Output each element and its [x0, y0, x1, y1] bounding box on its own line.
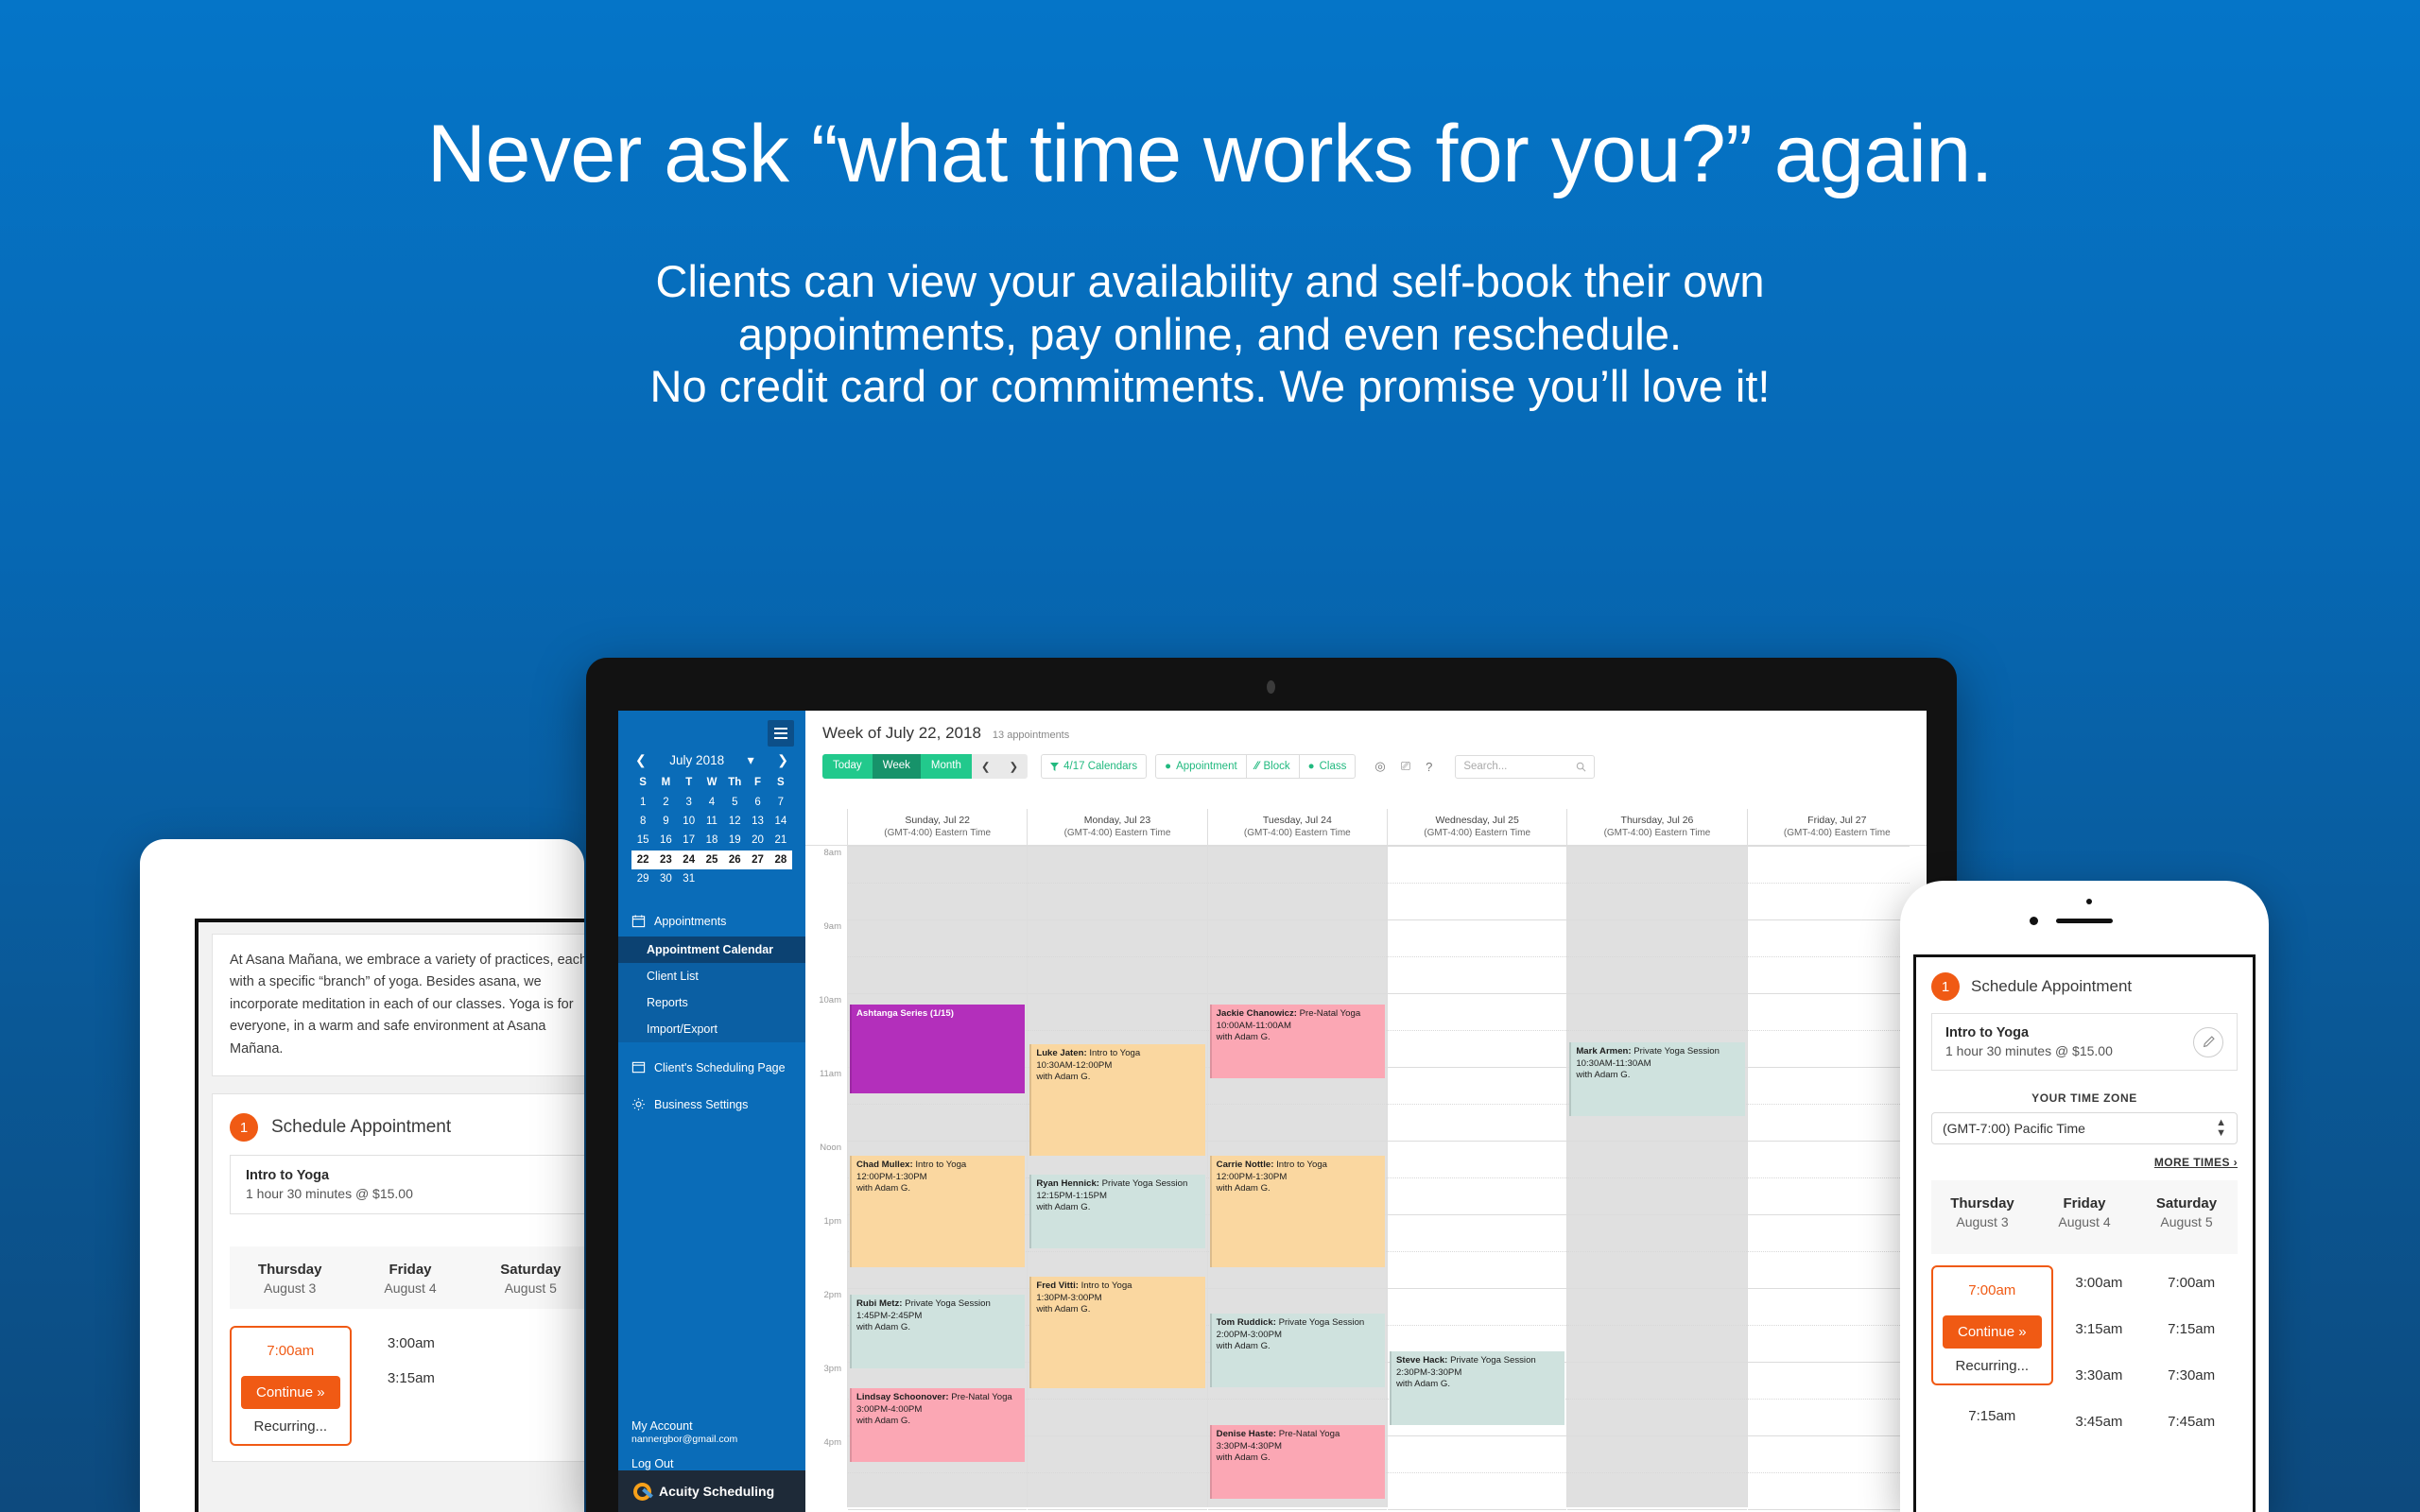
day-cell[interactable]: 1: [631, 792, 654, 811]
day-cell[interactable]: 21: [769, 831, 792, 850]
appointment-client: Carrie Nottle:: [1217, 1160, 1274, 1170]
day-cell[interactable]: 20: [746, 831, 769, 850]
appointment-staff: with Adam G.: [1036, 1304, 1090, 1314]
hour-line: [1388, 1141, 1566, 1142]
tablet-continue-button[interactable]: Continue »: [241, 1376, 340, 1409]
appointment-block[interactable]: Lindsay Schoonover: Pre-Natal Yoga3:00PM…: [850, 1388, 1025, 1462]
tablet-day-grid: Thursday August 3 Friday August 4 Saturd…: [230, 1246, 584, 1446]
appointment-time: 1:30PM-3:00PM: [1036, 1293, 1101, 1303]
sidebar-item-clients-scheduling-page[interactable]: Client's Scheduling Page: [618, 1052, 805, 1083]
week-calendar: Sunday, Jul 22 (GMT-4:00) Eastern Time M…: [805, 809, 1927, 1512]
column-day-label: Tuesday, Jul 24: [1210, 815, 1385, 826]
half-hour-line: [1388, 1472, 1566, 1473]
tablet-slot-friday-0[interactable]: 3:00am: [352, 1326, 472, 1361]
tablet-slot-col-saturday: [471, 1326, 584, 1446]
phone-slot-col-thursday: 7:00am Continue » Recurring... 7:15am: [1931, 1265, 2053, 1439]
appointment-time: 10:00AM-11:00AM: [1217, 1021, 1291, 1031]
day-cell[interactable]: 4: [700, 792, 723, 811]
toolbar-buttons: 4/17 Calendars ● Appointment ⁄⁄ Block ●: [1041, 754, 1356, 779]
sidebar-item-reports[interactable]: Reports: [618, 989, 805, 1016]
caret-down-icon[interactable]: ▾: [748, 752, 754, 768]
half-hour-line: [1567, 1177, 1746, 1178]
window-icon: [631, 1060, 646, 1074]
day-cell[interactable]: 6: [746, 792, 769, 811]
sidebar-item-appointments[interactable]: Appointments: [618, 905, 805, 936]
tablet-device-mockup: At Asana Mañana, we embrace a variety of…: [140, 839, 584, 1512]
hour-line: [1748, 846, 1927, 847]
appointment-staff: with Adam G.: [1036, 1202, 1090, 1212]
hour-line: [1208, 1509, 1387, 1510]
hour-line: [1388, 1435, 1566, 1436]
half-hour-line: [1567, 956, 1746, 957]
tablet-day-col-1: Friday August 4: [350, 1262, 470, 1296]
phone-step-title: Schedule Appointment: [1971, 977, 2132, 996]
appointment-time: 12:15PM-1:15PM: [1036, 1191, 1107, 1201]
half-hour-line: [1028, 1251, 1206, 1252]
acuity-logo-icon: [633, 1483, 651, 1501]
time-gutter-label: 3pm: [824, 1364, 841, 1374]
hero-subtitle-line-3: No credit card or commitments. We promis…: [0, 360, 2420, 412]
day-cell[interactable]: 18: [700, 831, 723, 850]
phone-slot-saturday-1[interactable]: 7:15am: [2145, 1312, 2238, 1358]
calendar-week-title: Week of July 22, 2018: [822, 724, 981, 743]
day-cell[interactable]: 24: [678, 850, 700, 869]
hour-line: [1388, 1288, 1566, 1289]
phone-timezone-value: (GMT-7:00) Pacific Time: [1943, 1121, 2085, 1136]
hour-line: [1388, 1067, 1566, 1068]
mini-calendar-dow-row: S M T W Th F S: [631, 773, 792, 792]
sidebar-item-label: Client's Scheduling Page: [654, 1061, 786, 1074]
time-gutter-label: 1pm: [824, 1216, 841, 1227]
chevron-right-icon[interactable]: ❯: [1000, 754, 1028, 779]
phone-device-mockup: 1 Schedule Appointment Intro to Yoga 1 h…: [1900, 881, 2269, 1512]
day-cell[interactable]: 5: [723, 792, 746, 811]
calendar-column-3[interactable]: Steve Hack: Private Yoga Session2:30PM-3…: [1387, 846, 1566, 1507]
appointment-block[interactable]: Luke Jaten: Intro to Yoga10:30AM-12:00PM…: [1029, 1044, 1204, 1156]
appointment-client: Lindsay Schoonover:: [856, 1392, 949, 1402]
view-switcher: Today Week Month ❮ ❯: [822, 754, 1028, 779]
calendar-col-header-4: Thursday, Jul 26 (GMT-4:00) Eastern Time: [1566, 809, 1746, 845]
calendars-filter-button[interactable]: 4/17 Calendars: [1041, 754, 1147, 779]
add-class-button[interactable]: ● Class: [1300, 754, 1357, 779]
tablet-scheduling-card: 1 Schedule Appointment Intro to Yoga 1 h…: [212, 1093, 584, 1462]
tablet-day-date-0: August 3: [230, 1280, 350, 1296]
tablet-recurring-link[interactable]: Recurring...: [241, 1418, 340, 1435]
half-hour-line: [1028, 1030, 1206, 1031]
hour-line: [848, 1509, 1027, 1510]
appointment-block[interactable]: Denise Haste: Pre-Natal Yoga3:30PM-4:30P…: [1210, 1425, 1385, 1499]
half-hour-line: [1567, 1325, 1746, 1326]
plus-circle-icon: ●: [1308, 761, 1315, 772]
tablet-day-header-row: Thursday August 3 Friday August 4 Saturd…: [230, 1246, 584, 1309]
appointment-client: Chad Mullex:: [856, 1160, 913, 1170]
phone-speaker: [2056, 919, 2113, 923]
phone-day-col-1: Friday August 4: [2033, 1195, 2135, 1229]
laptop-camera: [1267, 680, 1275, 694]
appointment-client: Mark Armen:: [1576, 1046, 1631, 1057]
tablet-selected-slot-time[interactable]: 7:00am: [241, 1333, 340, 1368]
phone-slot-thursday-1[interactable]: 7:15am: [1931, 1399, 2053, 1434]
calendars-filter-label: 4/17 Calendars: [1063, 761, 1137, 772]
chevron-right-icon[interactable]: ❯: [777, 752, 788, 768]
appointment-staff: with Adam G.: [1396, 1379, 1450, 1389]
day-cell: [700, 869, 723, 888]
appointment-staff: with Adam G.: [1217, 1341, 1270, 1351]
dow-label: S: [631, 773, 654, 792]
time-gutter-label: 11am: [820, 1069, 841, 1079]
tablet-day-date-1: August 4: [350, 1280, 470, 1296]
log-out-link[interactable]: Log Out: [631, 1457, 792, 1470]
calendar-col-header-5: Friday, Jul 27 (GMT-4:00) Eastern Time: [1747, 809, 1927, 845]
column-tz-label: (GMT-4:00) Eastern Time: [1210, 828, 1385, 838]
half-hour-line: [1208, 956, 1387, 957]
phone-slot-col-saturday: 7:00am 7:15am 7:30am 7:45am: [2145, 1265, 2238, 1439]
tablet-slot-col-thursday: 7:00am Continue » Recurring...: [230, 1326, 352, 1446]
appointment-service: Pre-Natal Yoga: [1300, 1008, 1361, 1019]
search-placeholder: Search...: [1463, 761, 1507, 772]
sidebar-item-appointment-calendar[interactable]: Appointment Calendar: [618, 936, 805, 963]
tablet-service-name: Intro to Yoga: [246, 1168, 575, 1183]
day-cell[interactable]: 17: [678, 831, 700, 850]
hour-line: [848, 846, 1027, 847]
appointment-block[interactable]: Steve Hack: Private Yoga Session2:30PM-3…: [1390, 1351, 1564, 1425]
appointment-block[interactable]: Ryan Hennick: Private Yoga Session12:15P…: [1029, 1175, 1204, 1248]
appointment-client: Fred Vitti:: [1036, 1280, 1079, 1291]
day-cell[interactable]: 27: [746, 850, 769, 869]
appointment-client: Rubi Metz:: [856, 1298, 903, 1309]
toolbar-icon-buttons: ◎ ⎚ ?: [1374, 759, 1432, 774]
day-cell[interactable]: 31: [678, 869, 700, 888]
add-appointment-button[interactable]: ● Appointment: [1155, 754, 1247, 779]
appointment-block[interactable]: Chad Mullex: Intro to Yoga12:00PM-1:30PM…: [850, 1156, 1025, 1267]
sidebar-item-client-list[interactable]: Client List: [618, 963, 805, 989]
hour-line: [1028, 1509, 1206, 1510]
brand-name: Acuity Scheduling: [659, 1484, 774, 1499]
day-cell[interactable]: 15: [631, 831, 654, 850]
day-cell[interactable]: 26: [723, 850, 746, 869]
plus-circle-icon: ●: [1165, 761, 1171, 772]
appointment-staff: with Adam G.: [1217, 1032, 1270, 1042]
day-cell[interactable]: 22: [631, 850, 654, 869]
column-day-label: Sunday, Jul 22: [850, 815, 1025, 826]
phone-continue-button[interactable]: Continue »: [1943, 1315, 2042, 1349]
app-sidebar: ❮ July 2018 ▾ ❯ S M T W Th F S 1 2: [618, 711, 805, 1512]
half-hour-line: [848, 956, 1027, 957]
mini-calendar-month-label[interactable]: July 2018: [669, 753, 724, 767]
tablet-day-col-0: Thursday August 3: [230, 1262, 350, 1296]
day-cell[interactable]: 30: [654, 869, 677, 888]
appointment-service: Intro to Yoga: [915, 1160, 966, 1170]
calendar-header: Week of July 22, 2018 13 appointments: [805, 711, 1927, 743]
appointment-service: Private Yoga Session: [1450, 1355, 1536, 1366]
hour-line: [1208, 993, 1387, 994]
half-hour-line: [848, 883, 1027, 884]
calendar-columns: Ashtanga Series (1/15)Chad Mullex: Intro…: [847, 846, 1927, 1507]
hour-line: [848, 1141, 1027, 1142]
phone-selected-slot-time[interactable]: 7:00am: [1943, 1273, 2042, 1308]
hamburger-icon[interactable]: [768, 720, 794, 747]
add-block-label: Block: [1264, 761, 1290, 772]
phone-slot-friday-3[interactable]: 3:45am: [2053, 1404, 2146, 1439]
chevron-left-icon[interactable]: ❮: [635, 752, 647, 768]
hero-subtitle: Clients can view your availability and s…: [0, 255, 2420, 412]
half-hour-line: [1748, 883, 1927, 884]
phone-sensor: [2086, 899, 2092, 904]
tablet-screen: At Asana Mañana, we embrace a variety of…: [195, 919, 584, 1512]
day-cell[interactable]: 28: [769, 850, 792, 869]
laptop-device-mockup: ❮ July 2018 ▾ ❯ S M T W Th F S 1 2: [586, 658, 1957, 1512]
appointment-staff: with Adam G.: [1576, 1070, 1630, 1080]
question-mark-icon[interactable]: ?: [1426, 760, 1432, 774]
phone-screen: 1 Schedule Appointment Intro to Yoga 1 h…: [1913, 954, 2256, 1512]
phone-day-col-0: Thursday August 3: [1931, 1195, 2033, 1229]
hour-line: [1028, 919, 1206, 920]
hour-line: [848, 919, 1027, 920]
printer-icon[interactable]: ⎚: [1401, 759, 1410, 774]
day-cell[interactable]: 8: [631, 812, 654, 831]
hour-line: [1388, 993, 1566, 994]
chevron-left-icon[interactable]: ❮: [972, 754, 1000, 779]
appointment-time: 3:00PM-4:00PM: [856, 1404, 922, 1415]
appointment-service: Intro to Yoga: [1081, 1280, 1132, 1291]
my-account-link[interactable]: My Account: [631, 1419, 792, 1433]
hour-line: [848, 993, 1027, 994]
mini-calendar-week-1: 1 2 3 4 5 6 7: [631, 792, 792, 811]
appointment-client: Denise Haste:: [1217, 1429, 1276, 1439]
appointment-service: Private Yoga Session: [1279, 1317, 1365, 1328]
mini-calendar-week-5: 29 30 31: [631, 869, 792, 888]
dow-label: Th: [723, 773, 746, 792]
tablet-selected-slot-wrapper[interactable]: 7:00am Continue » Recurring...: [230, 1326, 352, 1446]
add-appointment-label: Appointment: [1176, 761, 1237, 772]
appointment-block[interactable]: Ashtanga Series (1/15): [850, 1005, 1025, 1093]
phone-step-header: 1 Schedule Appointment: [1931, 972, 2238, 1013]
phone-recurring-link[interactable]: Recurring...: [1943, 1358, 2042, 1374]
half-hour-line: [1028, 1472, 1206, 1473]
dow-label: W: [700, 773, 723, 792]
app-main: Week of July 22, 2018 13 appointments To…: [805, 711, 1927, 1512]
account-email: nannergbor@gmail.com: [631, 1434, 792, 1445]
phone-slot-friday-0[interactable]: 3:00am: [2053, 1265, 2146, 1312]
appointment-service: Intro to Yoga: [1089, 1048, 1140, 1058]
phone-day-name-0: Thursday: [1931, 1195, 2033, 1211]
page-title: Never ask “what time works for you?” aga…: [0, 112, 2420, 197]
column-day-label: Thursday, Jul 26: [1569, 815, 1744, 826]
add-block-button[interactable]: ⁄⁄ Block: [1247, 754, 1300, 779]
day-cell[interactable]: 16: [654, 831, 677, 850]
calendar-column-0[interactable]: Ashtanga Series (1/15)Chad Mullex: Intro…: [847, 846, 1027, 1507]
appointment-client: Steve Hack:: [1396, 1355, 1447, 1366]
time-gutter: 8am9am10am11amNoon1pm2pm3pm4pm: [805, 846, 847, 1507]
half-hour-line: [1208, 883, 1387, 884]
half-hour-line: [1388, 1177, 1566, 1178]
phone-slot-friday-2[interactable]: 3:30am: [2053, 1358, 2146, 1404]
appointment-block[interactable]: Jackie Chanowicz: Pre-Natal Yoga10:00AM-…: [1210, 1005, 1385, 1078]
appointment-service: Private Yoga Session: [905, 1298, 991, 1309]
calendar-icon: [631, 914, 646, 928]
half-hour-line: [1388, 1030, 1566, 1031]
tablet-day-date-2: August 5: [471, 1280, 584, 1296]
appointment-block[interactable]: Carrie Nottle: Intro to Yoga12:00PM-1:30…: [1210, 1156, 1385, 1267]
day-cell[interactable]: 14: [769, 812, 792, 831]
appointment-block[interactable]: Mark Armen: Private Yoga Session10:30AM-…: [1569, 1042, 1744, 1116]
magnifier-icon[interactable]: ◎: [1374, 759, 1385, 774]
sidebar-subnav-appointments: Appointment Calendar Client List Reports…: [618, 936, 805, 1042]
half-hour-line: [1028, 883, 1206, 884]
calendar-column-1[interactable]: Luke Jaten: Intro to Yoga10:30AM-12:00PM…: [1027, 846, 1206, 1507]
column-tz-label: (GMT-4:00) Eastern Time: [1569, 828, 1744, 838]
add-class-label: Class: [1320, 761, 1347, 772]
dow-label: S: [769, 773, 792, 792]
day-cell[interactable]: 9: [654, 812, 677, 831]
phone-service-box[interactable]: Intro to Yoga 1 hour 30 minutes @ $15.00: [1931, 1013, 2238, 1071]
appointment-count: 13 appointments: [993, 730, 1069, 741]
hour-line: [1567, 1509, 1746, 1510]
half-hour-line: [1388, 1251, 1566, 1252]
appointment-block[interactable]: Fred Vitti: Intro to Yoga1:30PM-3:00PMwi…: [1029, 1277, 1204, 1388]
appointment-time: 2:00PM-3:00PM: [1217, 1330, 1282, 1340]
half-hour-line: [848, 1104, 1027, 1105]
time-gutter-label: 10am: [819, 995, 841, 1005]
more-times-link[interactable]: MORE TIMES ›: [1931, 1156, 2238, 1169]
tablet-step-title: Schedule Appointment: [271, 1117, 451, 1138]
time-gutter-label: Noon: [820, 1143, 841, 1153]
hour-line: [1567, 993, 1746, 994]
month-button[interactable]: Month: [921, 754, 972, 779]
phone-day-date-2: August 5: [2135, 1214, 2238, 1229]
appointment-staff: with Adam G.: [856, 1322, 910, 1332]
phone-day-name-1: Friday: [2033, 1195, 2135, 1211]
appointment-client: Ashtanga Series (1/15): [856, 1008, 954, 1019]
phone-day-col-2: Saturday August 5: [2135, 1195, 2238, 1229]
hour-line: [1208, 919, 1387, 920]
phone-timezone-select[interactable]: (GMT-7:00) Pacific Time ▲▼: [1931, 1112, 2238, 1144]
day-cell[interactable]: 2: [654, 792, 677, 811]
hero-subtitle-line-2: appointments, pay online, and even resch…: [0, 308, 2420, 360]
day-cell: [746, 869, 769, 888]
day-cell[interactable]: 7: [769, 792, 792, 811]
sidebar-nav: Appointments Appointment Calendar Client…: [618, 905, 805, 1120]
search-input[interactable]: Search...: [1455, 755, 1595, 779]
time-gutter-label: 2pm: [824, 1290, 841, 1300]
tablet-day-name-2: Saturday: [471, 1262, 584, 1278]
phone-slot-saturday-3[interactable]: 7:45am: [2145, 1404, 2238, 1439]
day-cell[interactable]: 23: [654, 850, 677, 869]
appointment-service: Intro to Yoga: [1276, 1160, 1327, 1170]
appointment-staff: with Adam G.: [856, 1183, 910, 1194]
column-day-label: Wednesday, Jul 25: [1390, 815, 1564, 826]
time-gutter-label: 9am: [824, 921, 841, 932]
sidebar-item-business-settings[interactable]: Business Settings: [618, 1089, 805, 1120]
day-cell[interactable]: 19: [723, 831, 746, 850]
calendar-column-headers: Sunday, Jul 22 (GMT-4:00) Eastern Time M…: [805, 809, 1927, 846]
sidebar-account-section: My Account nannergbor@gmail.com Log Out: [618, 1419, 805, 1470]
hour-line: [848, 1288, 1027, 1289]
tablet-slot-col-friday: 3:00am 3:15am: [352, 1326, 472, 1446]
hour-line: [1208, 1141, 1387, 1142]
half-hour-line: [1388, 956, 1566, 957]
hour-line: [1567, 846, 1746, 847]
day-cell[interactable]: 25: [700, 850, 723, 869]
day-cell[interactable]: 3: [678, 792, 700, 811]
appointment-staff: with Adam G.: [856, 1416, 910, 1426]
tablet-day-name-1: Friday: [350, 1262, 470, 1278]
phone-slot-friday-1[interactable]: 3:15am: [2053, 1312, 2146, 1358]
time-gutter-label: 4pm: [824, 1437, 841, 1448]
laptop-screen: ❮ July 2018 ▾ ❯ S M T W Th F S 1 2: [618, 711, 1927, 1512]
phone-day-grid: Thursday August 3 Friday August 4 Saturd…: [1931, 1180, 2238, 1439]
day-cell[interactable]: 13: [746, 812, 769, 831]
hour-line: [1567, 1214, 1746, 1215]
calendar-column-2[interactable]: Jackie Chanowicz: Pre-Natal Yoga10:00AM-…: [1207, 846, 1387, 1507]
half-hour-line: [1208, 1399, 1387, 1400]
block-stripes-icon: ⁄⁄: [1255, 761, 1259, 772]
appointment-time: 2:30PM-3:30PM: [1396, 1367, 1461, 1378]
tablet-step-header: 1 Schedule Appointment: [230, 1109, 584, 1155]
dow-label: F: [746, 773, 769, 792]
half-hour-line: [848, 1472, 1027, 1473]
appointment-service: Private Yoga Session: [1633, 1046, 1720, 1057]
hour-line: [1028, 846, 1206, 847]
column-tz-label: (GMT-4:00) Eastern Time: [1390, 828, 1564, 838]
appointment-time: 3:30PM-4:30PM: [1217, 1441, 1282, 1452]
step-number-badge: 1: [230, 1113, 258, 1142]
week-button[interactable]: Week: [873, 754, 921, 779]
funnel-icon: [1050, 763, 1059, 771]
updown-arrows-icon: ▲▼: [2216, 1118, 2226, 1139]
appointment-block[interactable]: Tom Ruddick: Private Yoga Session2:00PM-…: [1210, 1314, 1385, 1387]
today-button[interactable]: Today: [822, 754, 873, 779]
tablet-slot-friday-1[interactable]: 3:15am: [352, 1361, 472, 1396]
search-icon: [1576, 762, 1586, 772]
calendar-column-4[interactable]: Mark Armen: Private Yoga Session10:30AM-…: [1566, 846, 1746, 1507]
day-cell[interactable]: 29: [631, 869, 654, 888]
phone-day-date-0: August 3: [1931, 1214, 2033, 1229]
appointment-staff: with Adam G.: [1217, 1183, 1270, 1194]
appointment-block[interactable]: Rubi Metz: Private Yoga Session1:45PM-2:…: [850, 1295, 1025, 1368]
mini-calendar-week-3: 15 16 17 18 19 20 21: [631, 831, 792, 850]
column-tz-label: (GMT-4:00) Eastern Time: [1750, 828, 1925, 838]
hour-line: [1208, 1288, 1387, 1289]
phone-selected-slot-wrapper[interactable]: 7:00am Continue » Recurring...: [1931, 1265, 2053, 1385]
phone-slot-saturday-2[interactable]: 7:30am: [2145, 1358, 2238, 1404]
dow-label: T: [678, 773, 700, 792]
day-cell: [723, 869, 746, 888]
phone-slot-saturday-0[interactable]: 7:00am: [2145, 1265, 2238, 1312]
appointment-service: Private Yoga Session: [1102, 1178, 1188, 1189]
pencil-icon[interactable]: [2193, 1027, 2223, 1057]
appointment-client: Ryan Hennick:: [1036, 1178, 1099, 1189]
hour-line: [1388, 919, 1566, 920]
column-day-label: Friday, Jul 27: [1750, 815, 1925, 826]
appointment-time: 12:00PM-1:30PM: [1217, 1172, 1288, 1182]
business-description-text: At Asana Mañana, we embrace a variety of…: [230, 950, 584, 1060]
sidebar-item-label: Business Settings: [654, 1098, 748, 1111]
day-cell[interactable]: 11: [700, 812, 723, 831]
day-cell: [769, 869, 792, 888]
day-cell[interactable]: 12: [723, 812, 746, 831]
calendar-col-header-1: Monday, Jul 23 (GMT-4:00) Eastern Time: [1027, 809, 1206, 845]
hour-line: [1028, 1435, 1206, 1436]
hero-section: Never ask “what time works for you?” aga…: [0, 0, 2420, 413]
day-cell[interactable]: 10: [678, 812, 700, 831]
calendar-body: 8am9am10am11amNoon1pm2pm3pm4pm Ashtanga …: [805, 846, 1927, 1507]
phone-day-header-row: Thursday August 3 Friday August 4 Saturd…: [1931, 1180, 2238, 1254]
appointment-service: Pre-Natal Yoga: [951, 1392, 1012, 1402]
sidebar-item-import-export[interactable]: Import/Export: [618, 1016, 805, 1042]
tablet-service-box[interactable]: Intro to Yoga 1 hour 30 minutes @ $15.00: [230, 1155, 584, 1214]
tablet-day-name-0: Thursday: [230, 1262, 350, 1278]
